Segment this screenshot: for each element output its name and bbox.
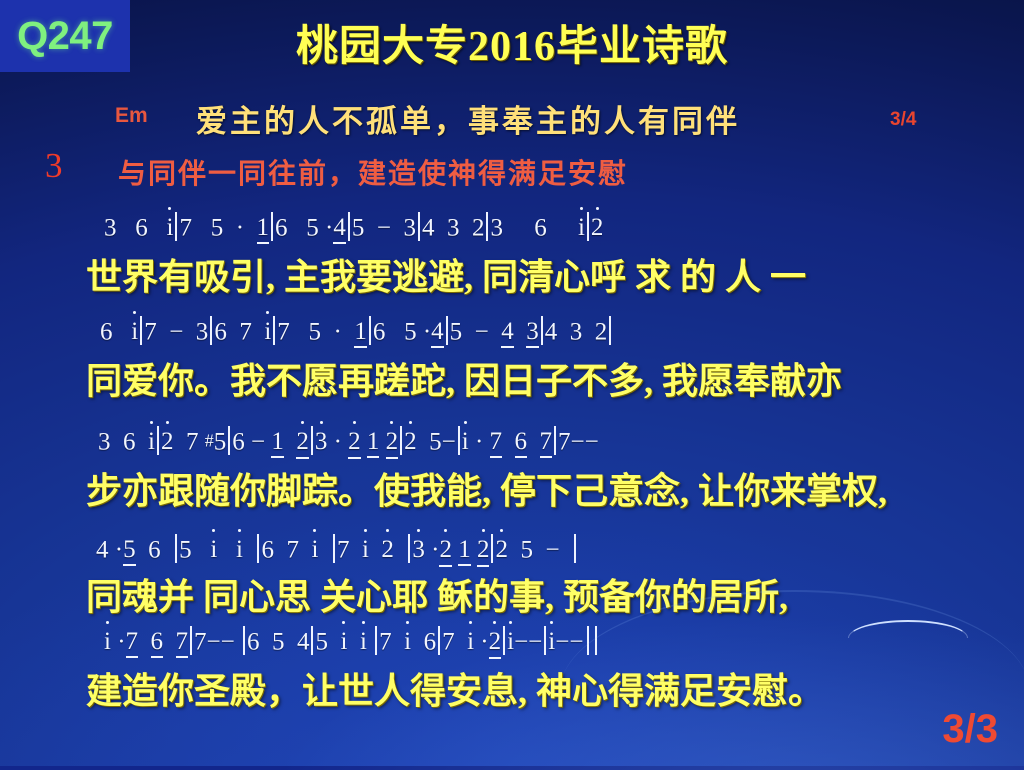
subtitle-line-2: 与同伴一同往前，建造使神得满足安慰 (118, 152, 628, 192)
stave-3-lyric: 步亦跟随你脚踪。使我能, 停下己意念, 让你来掌权, (0, 462, 1024, 514)
time-signature-label: 3/4 (890, 109, 916, 131)
stave-1-lyric: 世界有吸引, 主我要逃避, 同清心呼 求 的 人 一 (0, 248, 1024, 300)
verse-number-label: 3 (45, 146, 63, 186)
stave-1-notation: 3 6 i7 5 · 16 5 ·45 − 34 3 23 6 i2 (0, 212, 1024, 242)
stave-2-notation: 6 i7 − 36 7 i7 5 · 16 5 ·45 − 4 34 3 2 (0, 316, 1024, 346)
page-number-label: 3/3 (942, 707, 998, 752)
page-title: 桃园大专2016毕业诗歌 (0, 12, 1024, 73)
stave-3-notation: 3 6 i2 7 #56 − 1 23 · 2 1 22 5−i · 7 6 7… (0, 426, 1024, 459)
stave-5-notation: i ·7 6 77−− 6 5 45 i i 7 i 67 i ·2i−−i−− (0, 626, 1024, 659)
stave-4-notation: 4 ·5 6 5 i i 6 7 i 7 i 2 3 ·2 1 22 5 − (0, 534, 1024, 567)
stave-5-lyric: 建造你圣殿，让世人得安息, 神心得满足安慰。 (0, 662, 1024, 714)
stave-4-lyric: 同魂并 同心思 关心耶 稣的事, 预备你的居所, (0, 568, 1024, 620)
subtitle-line-1: 爱主的人不孤单，事奉主的人有同伴 (196, 96, 740, 141)
tie-slur-icon (848, 620, 968, 638)
stave-2-lyric: 同爱你。我不愿再蹉跎, 因日子不多, 我愿奉献亦 (0, 352, 1024, 404)
chord-label-em: Em (115, 104, 148, 128)
slide-canvas: Q247 桃园大专2016毕业诗歌 Em 爱主的人不孤单，事奉主的人有同伴 3/… (0, 0, 1024, 766)
